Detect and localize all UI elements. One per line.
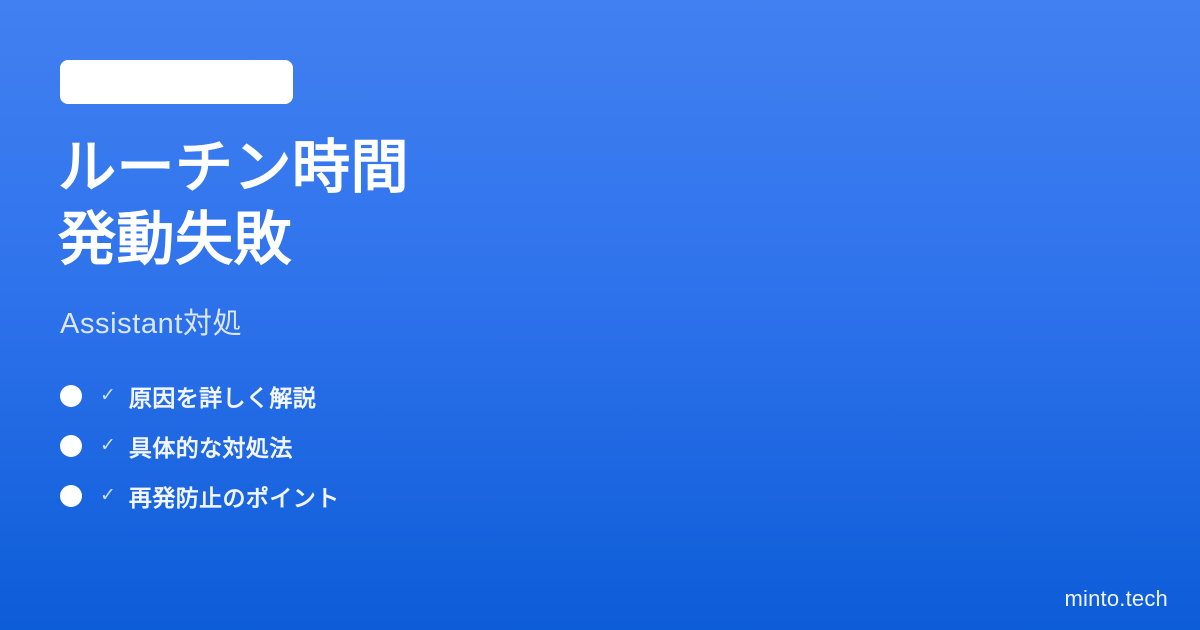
bullet-dot-icon bbox=[60, 485, 82, 507]
page-title: ルーチン時間 発動失敗 bbox=[58, 132, 1078, 276]
list-item: ✓ 具体的な対処法 bbox=[60, 431, 340, 460]
check-icon: ✓ bbox=[100, 486, 116, 505]
check-icon: ✓ bbox=[100, 386, 116, 405]
footer-brand: minto.tech bbox=[1065, 586, 1169, 612]
list-item-label: 原因を詳しく解説 bbox=[129, 379, 316, 413]
page-subtitle: Assistant対処 bbox=[60, 307, 242, 342]
category-badge bbox=[60, 60, 293, 104]
feature-list: ✓ 原因を詳しく解説 ✓ 具体的な対処法 ✓ 再発防止のポイント bbox=[60, 381, 340, 510]
list-item-label: 再発防止のポイント bbox=[129, 479, 340, 513]
promo-card: ルーチン時間 発動失敗 Assistant対処 ✓ 原因を詳しく解説 ✓ 具体的… bbox=[0, 0, 1200, 630]
check-icon: ✓ bbox=[100, 436, 116, 455]
list-item: ✓ 原因を詳しく解説 bbox=[60, 381, 340, 410]
bullet-dot-icon bbox=[60, 385, 82, 407]
bullet-dot-icon bbox=[60, 435, 82, 457]
list-item: ✓ 再発防止のポイント bbox=[60, 481, 340, 510]
page-title-line-1: ルーチン時間 bbox=[58, 132, 1078, 204]
page-title-line-2: 発動失敗 bbox=[58, 204, 1078, 276]
list-item-label: 具体的な対処法 bbox=[129, 429, 293, 463]
